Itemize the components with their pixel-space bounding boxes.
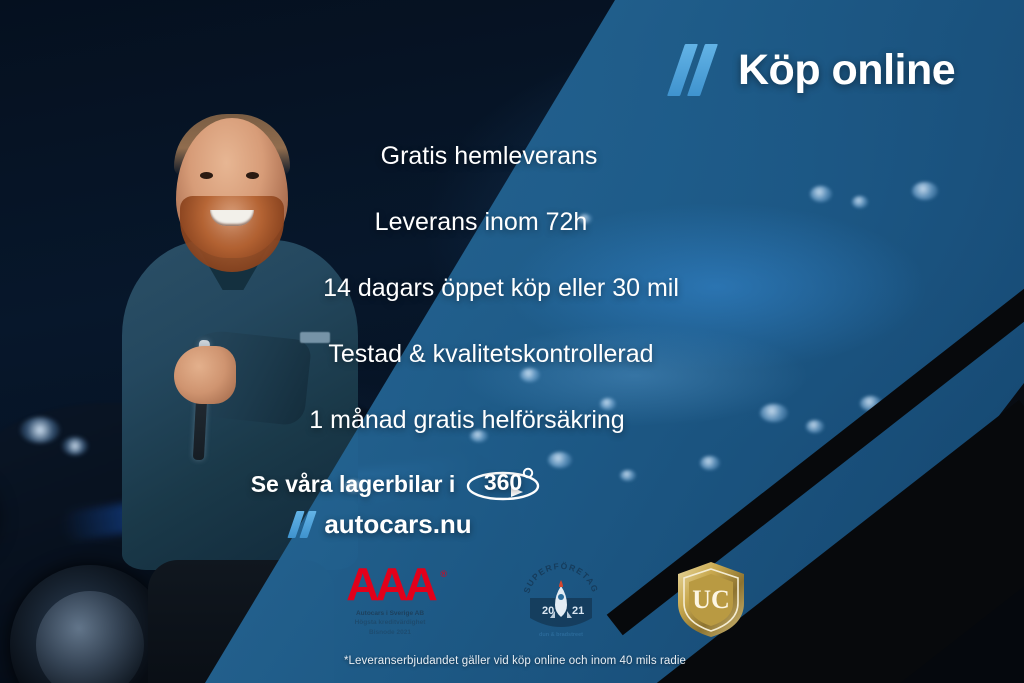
aaa-subtext-1: Autocars i Sverige AB [330, 609, 450, 618]
aaa-letters: AAA [330, 561, 450, 607]
uc-sigill-logo: UC [672, 557, 750, 641]
cta-text: Se våra lagerbilar i [251, 471, 456, 498]
cta-line-2[interactable]: autocars.nu [292, 509, 731, 540]
aaa-credit-rating-logo: AAA ® Autocars i Sverige AB Högsta kredi… [330, 561, 450, 637]
footnote: *Leveranserbjudandet gäller vid köp onli… [0, 655, 1024, 667]
double-slash-icon [292, 511, 318, 538]
call-to-action[interactable]: Se våra lagerbilar i 360 autocars.nu [0, 465, 1024, 543]
list-item: 14 dagars öppet köp eller 30 mil [0, 274, 1024, 303]
cta-line-1: Se våra lagerbilar i 360 [251, 465, 774, 503]
uc-letters: UC [692, 585, 730, 614]
svg-text:360: 360 [484, 469, 522, 495]
view-360-icon: 360 [465, 465, 541, 503]
list-item: Testad & kvalitetskontrollerad [0, 340, 1024, 369]
aaa-subtext-3: Bisnode 2021 [330, 628, 450, 637]
certification-logos: AAA ® Autocars i Sverige AB Högsta kredi… [330, 556, 750, 642]
list-item: 1 månad gratis helförsäkring [0, 406, 1024, 435]
list-item: Gratis hemleverans [0, 142, 1024, 171]
superforetag-2021-badge: SUPERFÖRETAG 20 21 dun & bradstreet [516, 556, 606, 642]
svg-text:dun & bradstreet: dun & bradstreet [539, 632, 583, 638]
promo-banner: Köp online Gratis hemleverans Leverans i… [0, 0, 1024, 683]
headline-row: Köp online [674, 44, 955, 96]
aaa-subtext-2: Högsta kreditvärdighet [330, 618, 450, 627]
double-slash-icon [674, 44, 720, 96]
registered-trademark-icon: ® [440, 569, 447, 579]
benefits-list: Gratis hemleverans Leverans inom 72h 14 … [0, 142, 1024, 472]
website-link[interactable]: autocars.nu [324, 509, 471, 540]
list-item: Leverans inom 72h [0, 208, 1024, 237]
page-title: Köp online [738, 46, 955, 95]
badge-year-right: 21 [572, 605, 584, 617]
